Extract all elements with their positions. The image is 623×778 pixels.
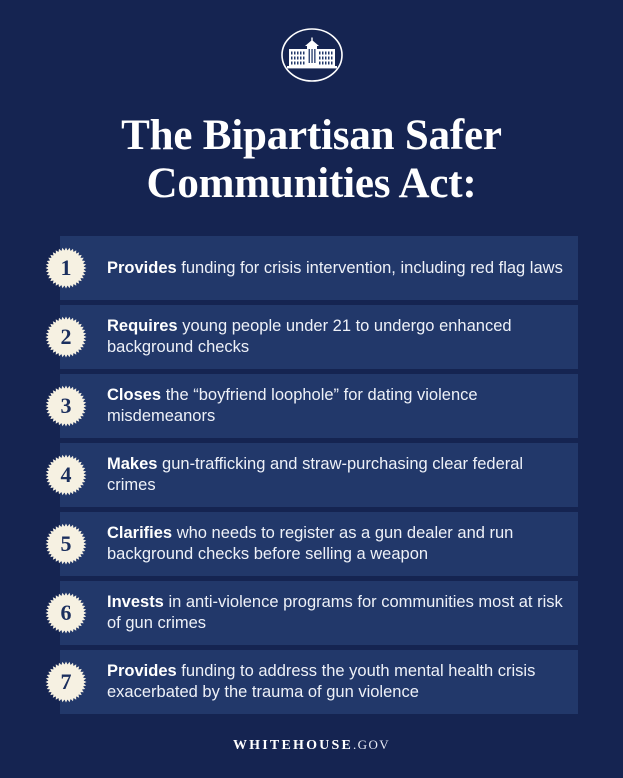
provision-text: Makes gun-trafficking and straw-purchasi… [107, 454, 568, 497]
seal-number-badge-icon: 1 [45, 247, 87, 289]
provision-number: 5 [61, 533, 72, 555]
provision-lead-word: Provides [107, 259, 177, 277]
seal-number-badge-icon: 4 [45, 454, 87, 496]
seal-number-badge-icon: 5 [45, 523, 87, 565]
provision-row: 2Requires young people under 21 to under… [60, 305, 578, 369]
provision-body: in anti-violence programs for communitie… [107, 593, 563, 632]
provision-body: the “boyfriend loophole” for dating viol… [107, 386, 478, 425]
provision-lead-word: Invests [107, 593, 164, 611]
infographic-poster: The Bipartisan Safer Communities Act: 1P… [0, 0, 623, 778]
provisions-list: 1Provides funding for crisis interventio… [0, 236, 623, 714]
provision-body: funding for crisis intervention, includi… [177, 259, 563, 277]
provision-body: gun-trafficking and straw-purchasing cle… [107, 455, 523, 494]
provision-text: Provides funding for crisis intervention… [107, 258, 563, 279]
provision-number: 1 [61, 257, 72, 279]
footer-site-tld: .GOV [353, 737, 390, 752]
provision-number: 2 [61, 326, 72, 348]
provision-row: 6Invests in anti-violence programs for c… [60, 581, 578, 645]
provision-lead-word: Requires [107, 317, 178, 335]
provision-text: Provides funding to address the youth me… [107, 661, 568, 704]
white-house-seal-icon [270, 24, 354, 86]
seal-number-badge-icon: 2 [45, 316, 87, 358]
seal-number-badge-icon: 6 [45, 592, 87, 634]
provision-row: 1Provides funding for crisis interventio… [60, 236, 578, 300]
provision-row: 7Provides funding to address the youth m… [60, 650, 578, 714]
provision-number: 4 [61, 464, 72, 486]
provision-lead-word: Closes [107, 386, 161, 404]
provision-number: 3 [61, 395, 72, 417]
footer-wordmark: WHITEHOUSE.GOV [0, 736, 623, 754]
provision-text: Invests in anti-violence programs for co… [107, 592, 568, 635]
provision-lead-word: Provides [107, 662, 177, 680]
seal-number-badge-icon: 3 [45, 385, 87, 427]
provision-row: 5Clarifies who needs to register as a gu… [60, 512, 578, 576]
provision-lead-word: Clarifies [107, 524, 172, 542]
page-title-line-1: The Bipartisan Safer [32, 112, 592, 160]
page-title: The Bipartisan Safer Communities Act: [32, 112, 592, 208]
footer-site-name: WHITEHOUSE [233, 738, 353, 753]
provision-row: 4Makes gun-trafficking and straw-purchas… [60, 443, 578, 507]
provision-number: 6 [61, 602, 72, 624]
provision-row: 3Closes the “boyfriend loophole” for dat… [60, 374, 578, 438]
provision-number: 7 [61, 671, 72, 693]
provision-text: Closes the “boyfriend loophole” for dati… [107, 385, 568, 428]
seal-number-badge-icon: 7 [45, 661, 87, 703]
provision-text: Requires young people under 21 to underg… [107, 316, 568, 359]
page-title-line-2: Communities Act: [32, 160, 592, 208]
provision-lead-word: Makes [107, 455, 157, 473]
provision-text: Clarifies who needs to register as a gun… [107, 523, 568, 566]
